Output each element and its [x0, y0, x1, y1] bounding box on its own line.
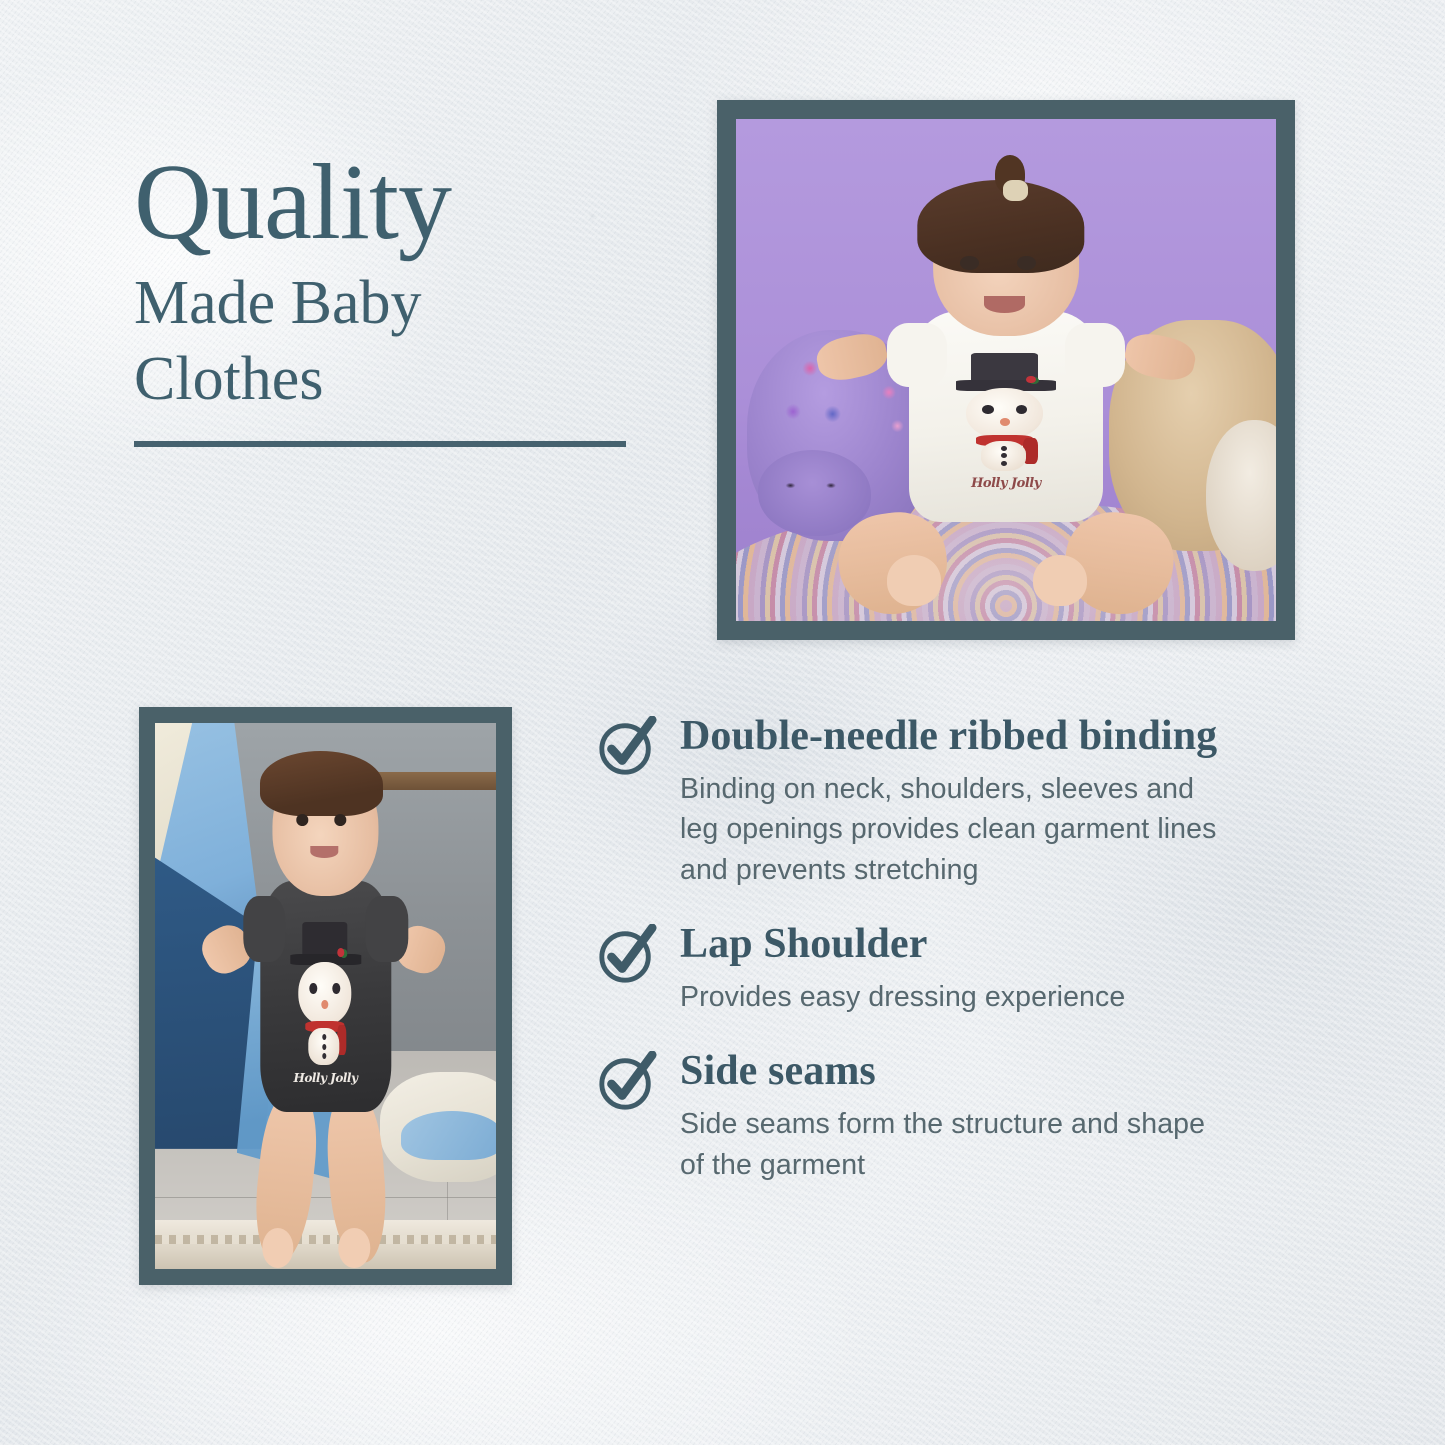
feature-text: Double-needle ribbed binding Binding on …	[680, 712, 1276, 890]
product-feature-infographic: Quality Made Baby Clothes	[0, 0, 1445, 1445]
page-title-line1: Quality	[134, 148, 654, 258]
heading-block: Quality Made Baby Clothes	[134, 148, 654, 447]
photo-frame-bottom: Holly Jolly	[139, 707, 512, 1285]
feature-text: Side seams Side seams form the structure…	[680, 1047, 1276, 1185]
toddler-hair	[260, 751, 383, 816]
feature-title: Lap Shoulder	[680, 920, 1276, 969]
snowman-head	[966, 388, 1043, 440]
check-circle-icon	[596, 716, 658, 778]
toddler-sleeve-right	[366, 896, 408, 961]
baby-mouth	[984, 296, 1025, 313]
snowman-button-3	[322, 1053, 326, 1059]
feature-description: Side seams form the structure and shape …	[680, 1104, 1225, 1185]
baby-eye-right	[1017, 256, 1036, 270]
toddler-sleeve-left	[243, 896, 285, 961]
snowman-head	[298, 962, 350, 1025]
baby-foot-left	[887, 555, 941, 606]
feature-item: Double-needle ribbed binding Binding on …	[596, 712, 1276, 890]
baby-sleeve-left	[887, 323, 946, 386]
page-title-line3: Clothes	[134, 342, 654, 418]
snowman-button-2	[322, 1044, 326, 1050]
feature-list: Double-needle ribbed binding Binding on …	[596, 712, 1276, 1185]
feature-text: Lap Shoulder Provides easy dressing expe…	[680, 920, 1276, 1017]
plush-toy-purple-eyes	[774, 475, 850, 495]
snowman-holly-berry	[1026, 376, 1036, 384]
page-title-line2: Made Baby	[134, 266, 654, 342]
photo-baby-white-bodysuit: Holly Jolly	[736, 119, 1276, 621]
baby-hair-top	[917, 180, 1084, 273]
toddler-eye-right	[334, 814, 347, 826]
snowman-graphic-text: Holly Jolly	[290, 1072, 361, 1084]
baby-figure-top: Holly Jolly	[871, 184, 1141, 606]
check-circle-icon	[596, 1051, 658, 1113]
snowman-button-3	[1001, 461, 1007, 466]
feature-item: Lap Shoulder Provides easy dressing expe…	[596, 920, 1276, 1017]
feature-title: Side seams	[680, 1047, 1276, 1096]
feature-description: Provides easy dressing experience	[680, 977, 1276, 1017]
baby-figure-bottom: Holly Jolly	[220, 756, 431, 1258]
snowman-graphic-top: Holly Jolly	[944, 353, 1068, 505]
snowman-graphic-bottom: Holly Jolly	[283, 922, 368, 1113]
snowman-nose	[321, 1000, 328, 1010]
photo-frame-top: Holly Jolly	[717, 100, 1295, 640]
toddler-foot-left	[262, 1228, 294, 1268]
title-divider	[134, 441, 626, 447]
photo-baby-dark-bodysuit: Holly Jolly	[155, 723, 496, 1269]
feature-title: Double-needle ribbed binding	[680, 712, 1240, 761]
check-circle-icon	[596, 924, 658, 986]
snowman-button-1	[322, 1034, 326, 1040]
snowman-graphic-text: Holly Jolly	[956, 477, 1055, 490]
feature-item: Side seams Side seams form the structure…	[596, 1047, 1276, 1185]
snowman-nose	[1000, 418, 1010, 426]
baby-hair-bow	[1003, 180, 1027, 201]
baby-eye-left	[960, 256, 979, 270]
snowman-eye-left	[982, 405, 993, 414]
baby-sleeve-right	[1065, 323, 1124, 386]
feature-description: Binding on neck, shoulders, sleeves and …	[680, 769, 1240, 890]
snowman-button-1	[1001, 446, 1007, 451]
toddler-eye-left	[296, 814, 309, 826]
baby-foot-right	[1033, 555, 1087, 606]
